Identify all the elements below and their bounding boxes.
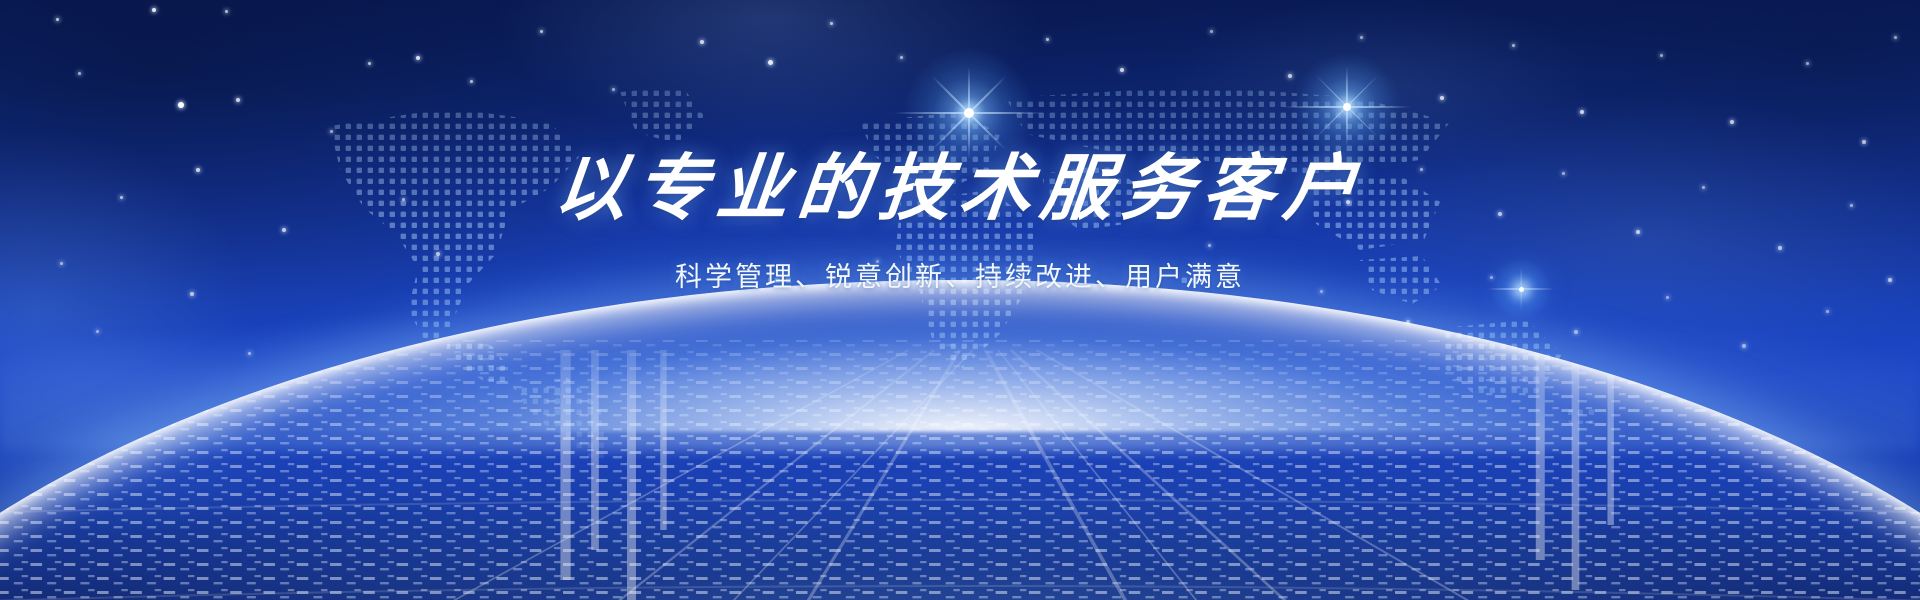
star: [470, 80, 473, 83]
star: [540, 30, 543, 33]
star: [152, 8, 156, 12]
star: [1574, 330, 1578, 334]
star: [56, 18, 59, 21]
star: [1742, 344, 1746, 348]
star: [1862, 140, 1866, 144]
star-flare-icon: [968, 112, 970, 114]
star: [1360, 36, 1363, 39]
flare-core: [1343, 103, 1351, 111]
banner-headline: 以专业的技术服务客户: [0, 148, 1920, 229]
flare-ray: [1283, 106, 1411, 108]
star: [700, 40, 704, 44]
star: [248, 352, 251, 355]
star: [178, 102, 184, 108]
star: [1210, 30, 1213, 33]
banner-subline: 科学管理、锐意创新、持续改进、用户满意: [0, 259, 1920, 297]
flare-ray: [1315, 75, 1378, 138]
star: [1826, 310, 1829, 313]
star: [900, 56, 903, 59]
flare-ray: [1346, 67, 1348, 147]
earth-horizon-glow: [0, 280, 1920, 600]
star: [330, 130, 333, 133]
banner-content: 以专业的技术服务客户 科学管理、锐意创新、持续改进、用户满意: [0, 148, 1920, 296]
star: [1660, 54, 1663, 57]
star: [96, 330, 99, 333]
star: [1806, 62, 1809, 65]
star: [1046, 38, 1049, 41]
star: [416, 56, 420, 60]
flare-ray: [894, 112, 1044, 115]
flare-ray: [932, 76, 1007, 151]
star: [1120, 68, 1124, 72]
star: [768, 60, 773, 65]
star: [1440, 96, 1444, 100]
star-flare-icon: [1346, 106, 1348, 108]
star: [1288, 74, 1292, 78]
flare-ray: [1315, 75, 1378, 138]
flare-core: [964, 108, 974, 118]
star: [368, 62, 371, 65]
flare-ray: [932, 76, 1007, 151]
hero-banner: 以专业的技术服务客户 科学管理、锐意创新、持续改进、用户满意: [0, 0, 1920, 600]
star: [1512, 44, 1515, 47]
star: [1666, 296, 1669, 299]
star: [236, 98, 240, 102]
star: [1580, 110, 1584, 114]
star: [1730, 120, 1734, 124]
star: [612, 88, 615, 91]
star: [225, 10, 228, 13]
star: [830, 22, 833, 25]
star: [1894, 36, 1897, 39]
star: [78, 72, 81, 75]
